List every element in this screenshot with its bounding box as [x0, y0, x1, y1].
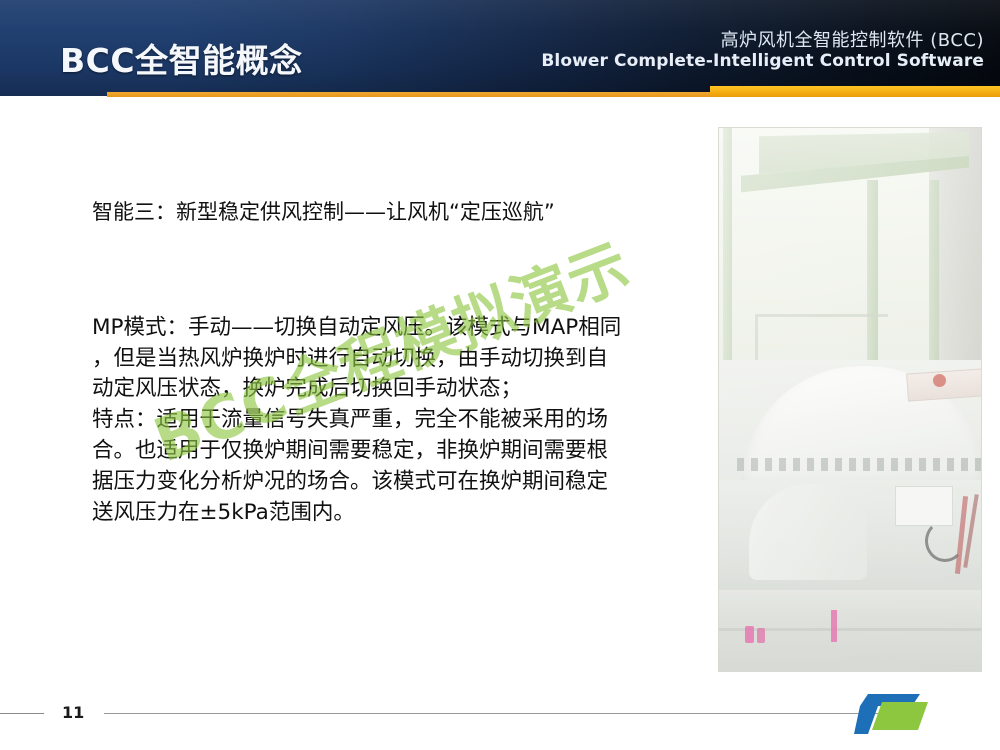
paragraph-line: 合。也适用于仅换炉期间需要稳定，非换炉期间需要根: [92, 436, 716, 467]
slide-header: BCC全智能概念 高炉风机全智能控制软件 (BCC) Blower Comple…: [0, 0, 1000, 96]
brand-block: 高炉风机全智能控制软件 (BCC) Blower Complete-Intell…: [541, 30, 984, 71]
accent-bar-right: [710, 86, 1000, 97]
slide-body: 智能三：新型稳定供风控制——让风机“定压巡航” MP模式：手动——切换自动定风压…: [92, 196, 716, 529]
footer-rule-left: [0, 713, 44, 714]
page-number: 11: [62, 703, 84, 722]
page-title: BCC全智能概念: [60, 44, 303, 77]
paragraph-line: 送风压力在±5kPa范围内。: [92, 498, 716, 529]
paragraph-line: 据压力变化分析炉况的场合。该模式可在换炉期间稳定: [92, 467, 716, 498]
brand-title-english: Blower Complete-Intelligent Control Soft…: [541, 51, 984, 71]
company-logo-icon: [854, 690, 982, 740]
blower-photo: [718, 127, 982, 672]
paragraph-line: MP模式：手动——切换自动定风压。该模式与MAP相同: [92, 313, 716, 344]
slide-root: { "header": { "slide_title": "BCC全智能概念",…: [0, 0, 1000, 750]
paragraph-line: ，但是当热风炉换炉时进行自动切换，由手动切换到自: [92, 344, 716, 375]
lead-line: 智能三：新型稳定供风控制——让风机“定压巡航”: [92, 196, 716, 229]
paragraph-line: 动定风压状态，换炉完成后切换回手动状态；: [92, 374, 716, 405]
body-paragraph: MP模式：手动——切换自动定风压。该模式与MAP相同 ，但是当热风炉换炉时进行自…: [92, 313, 716, 530]
footer-rule-right: [104, 713, 896, 714]
photo-overexposure-haze: [719, 128, 981, 671]
accent-bar-left: [107, 92, 710, 97]
paragraph-line: 特点：适用于流量信号失真严重，完全不能被采用的场: [92, 405, 716, 436]
brand-title-chinese: 高炉风机全智能控制软件 (BCC): [541, 30, 984, 51]
